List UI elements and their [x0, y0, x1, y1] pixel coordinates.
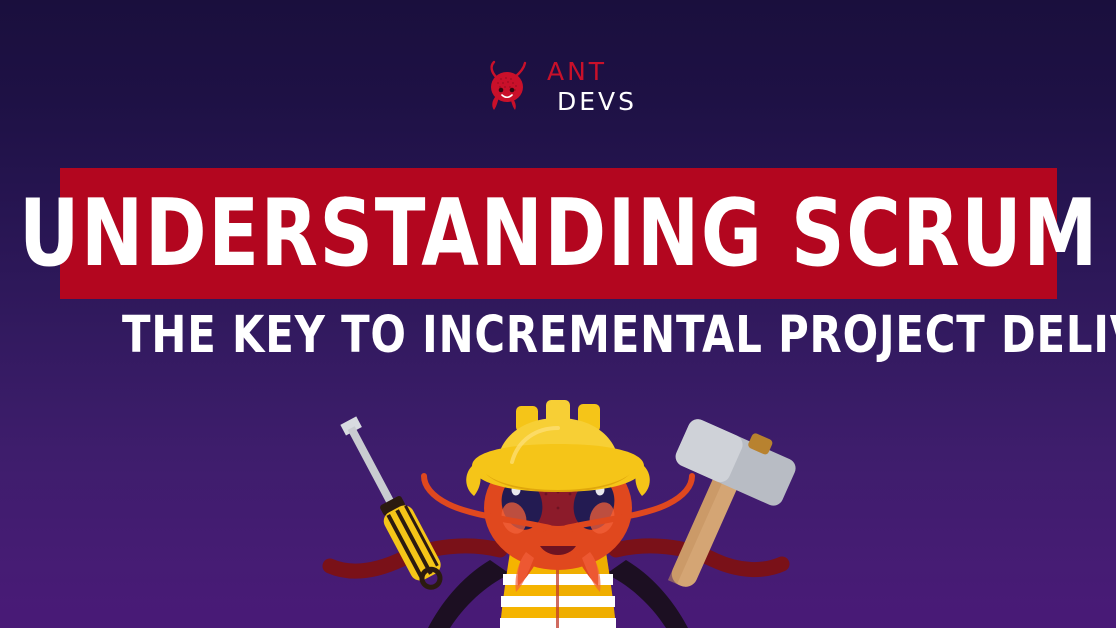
- brand-logo-ant-text: ANT: [547, 59, 637, 84]
- brand-logo-inner: ANT DEVS: [479, 56, 637, 114]
- page-title: UNDERSTANDING SCRUM: [19, 187, 1099, 280]
- subtitle-container: THE KEY TO INCREMENTAL PROJECT DELIVERY: [0, 310, 1116, 361]
- title-banner: UNDERSTANDING SCRUM: [60, 168, 1057, 299]
- brand-logo[interactable]: ANT DEVS: [0, 56, 1116, 114]
- hard-hat-icon: [466, 400, 650, 496]
- page-subtitle: THE KEY TO INCREMENTAL PROJECT DELIVERY: [122, 310, 1116, 361]
- poster-canvas: ANT DEVS UNDERSTANDING SCRUM THE KEY TO …: [0, 0, 1116, 628]
- brand-logo-wordmark: ANT DEVS: [547, 57, 637, 114]
- ant-mascot-logo-icon: [479, 56, 537, 114]
- construction-ant-character: [300, 400, 816, 628]
- brand-logo-devs-text: DEVS: [557, 89, 637, 114]
